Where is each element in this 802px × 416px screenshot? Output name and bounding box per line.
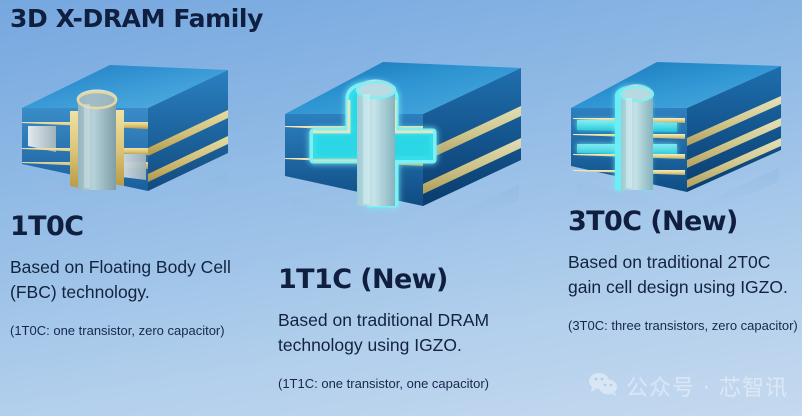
column-3-note: (3T0C: three transistors, zero capacitor… [568, 313, 800, 338]
column-1-note: (1T0C: one transistor, zero capacitor) [10, 318, 256, 343]
column-3t0c: 3T0C (New) Based on traditional 2T0C gai… [568, 208, 800, 338]
slide-canvas: 3D X-DRAM Family [0, 0, 802, 416]
column-3-body: Based on traditional 2T0C gain cell desi… [568, 250, 800, 300]
column-1t0c: 1T0C Based on Floating Body Cell (FBC) t… [10, 213, 256, 343]
column-2-body: Based on traditional DRAM technology usi… [278, 308, 536, 358]
column-1-body: Based on Floating Body Cell (FBC) techno… [10, 255, 256, 305]
column-2-note: (1T1C: one transistor, one capacitor) [278, 371, 536, 396]
column-3-heading: 3T0C (New) [568, 208, 800, 236]
wechat-icon [588, 372, 618, 401]
1t1c-cell-render [283, 48, 533, 238]
column-1t1c: 1T1C (New) Based on traditional DRAM tec… [278, 266, 536, 396]
watermark: 公众号 · 芯智讯 [588, 370, 788, 402]
watermark-text: 公众号 · 芯智讯 [626, 370, 788, 402]
1t0c-cell-render [18, 48, 246, 223]
column-1-heading: 1T0C [10, 213, 256, 241]
3t0c-cell-render [565, 50, 797, 220]
page-title: 3D X-DRAM Family [10, 4, 263, 33]
column-2-heading: 1T1C (New) [278, 266, 536, 294]
